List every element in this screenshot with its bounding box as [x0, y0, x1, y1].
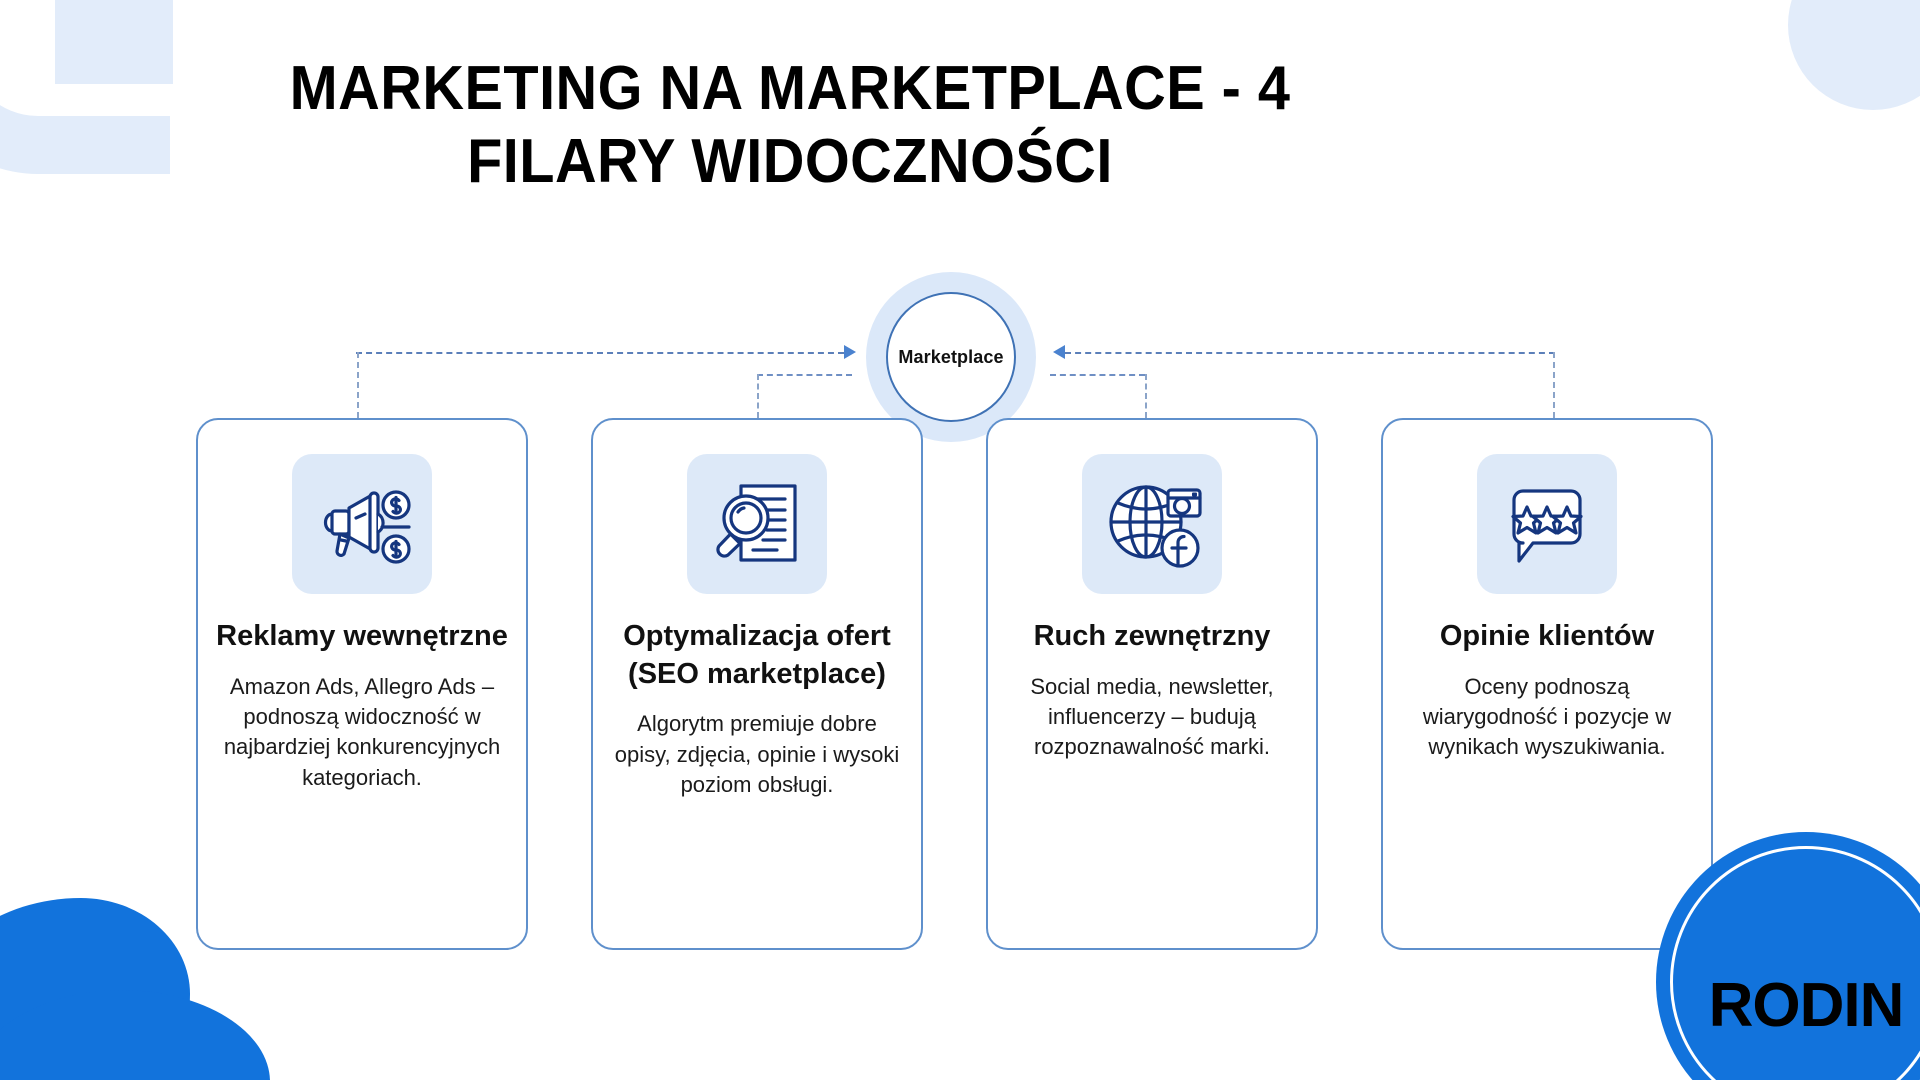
- globe-social-icon: [1082, 454, 1222, 594]
- page-title: MARKETING NA MARKETPLACE - 4 FILARY WIDO…: [213, 52, 1366, 198]
- pillar-card-3-body: Social media, newsletter, influencerzy –…: [1006, 672, 1298, 763]
- pillar-card-3-title: Ruch zewnętrzny: [1006, 618, 1298, 656]
- connector-drop-card-3: [1145, 374, 1147, 418]
- pillar-card-1[interactable]: Reklamy wewnętrzne Amazon Ads, Allegro A…: [196, 418, 528, 950]
- megaphone-dollar-icon: [292, 454, 432, 594]
- connector-inner-left-stub: [757, 374, 852, 376]
- pillar-card-2-title: Optymalizacja ofert (SEO marketplace): [611, 618, 903, 693]
- pillar-card-1-title: Reklamy wewnętrzne: [216, 618, 508, 656]
- connector-drop-card-1: [357, 352, 359, 418]
- connector-drop-card-4: [1553, 352, 1555, 418]
- hub-marketplace-node: Marketplace: [886, 292, 1016, 422]
- logo-ring: [1670, 846, 1920, 1080]
- connector-right-arrowhead: [1053, 345, 1065, 359]
- hub-label: Marketplace: [898, 347, 1003, 368]
- pillar-card-2-body: Algorytm premiuje dobre opisy, zdjęcia, …: [611, 709, 903, 800]
- decorative-hook-fill: [55, 0, 173, 84]
- review-stars-bubble-icon: [1477, 454, 1617, 594]
- slide-canvas: MARKETING NA MARKETPLACE - 4 FILARY WIDO…: [0, 0, 1920, 1080]
- pillar-card-4-title: Opinie klientów: [1401, 618, 1693, 656]
- pillar-card-2[interactable]: Optymalizacja ofert (SEO marketplace) Al…: [591, 418, 923, 950]
- pillar-card-4[interactable]: Opinie klientów Oceny podnoszą wiarygodn…: [1381, 418, 1713, 950]
- logo-text: RODIN: [1656, 970, 1920, 1041]
- connector-left-trunk: [356, 352, 844, 354]
- connector-inner-right-stub: [1050, 374, 1145, 376]
- decorative-blob-bottom-left: [0, 898, 190, 1080]
- connector-left-arrowhead: [844, 345, 856, 359]
- connector-right-trunk: [1065, 352, 1555, 354]
- decorative-blob-bottom-left-2: [0, 990, 270, 1080]
- magnifier-document-icon: [687, 454, 827, 594]
- pillar-card-4-body: Oceny podnoszą wiarygodność i pozycje w …: [1401, 672, 1693, 763]
- pillar-card-1-body: Amazon Ads, Allegro Ads – podnoszą widoc…: [216, 672, 508, 793]
- decorative-circle-top-right: [1788, 0, 1920, 110]
- pillar-card-3[interactable]: Ruch zewnętrzny Social media, newsletter…: [986, 418, 1318, 950]
- connector-drop-card-2: [757, 374, 759, 418]
- decorative-hook-shape: [0, 0, 170, 174]
